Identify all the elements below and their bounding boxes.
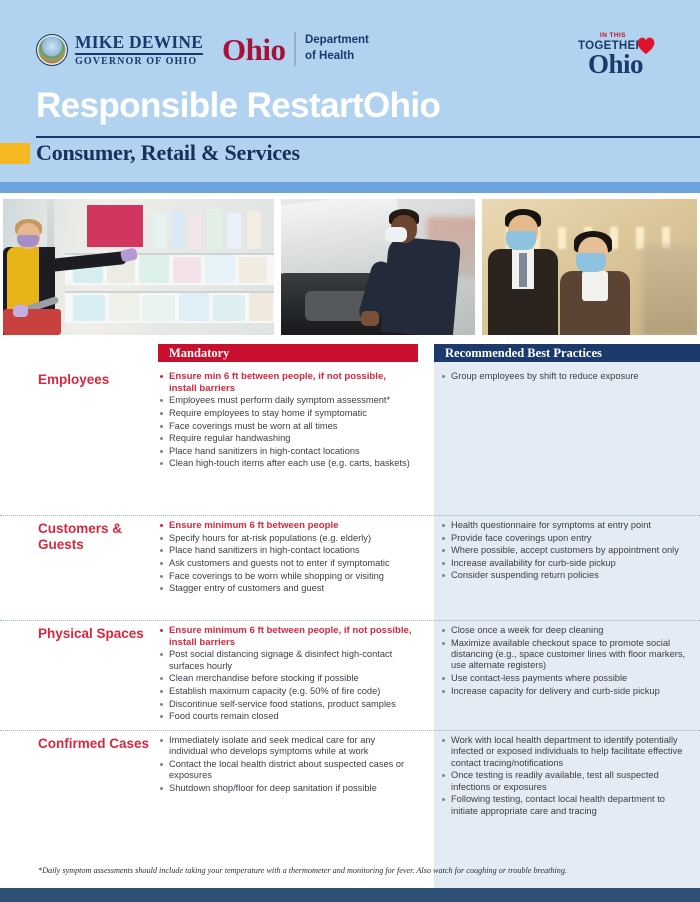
section-title: Physical Spaces bbox=[38, 626, 150, 642]
odh-logo-divider bbox=[294, 32, 296, 66]
list-item: Food courts remain closed bbox=[158, 711, 416, 722]
accent-tab bbox=[0, 143, 30, 164]
list-item: Clean merchandise before stocking if pos… bbox=[158, 673, 416, 684]
table-row: Customers & Guests Ensure minimum 6 ft b… bbox=[0, 515, 700, 620]
section-mandatory-list: Ensure min 6 ft between people, if not p… bbox=[158, 371, 416, 471]
list-item: Work with local health department to ide… bbox=[440, 735, 694, 769]
odh-logo: Ohio Department of Health bbox=[222, 32, 369, 66]
in-this-together-ohio-logo: IN THIS TOGETHER Ohio bbox=[578, 30, 673, 84]
list-item: Close once a week for deep cleaning bbox=[440, 625, 694, 636]
list-item: Place hand sanitizers in high-contact lo… bbox=[158, 446, 416, 457]
list-item: Require regular handwashing bbox=[158, 433, 416, 444]
governor-subtitle: GOVERNOR OF OHIO bbox=[75, 57, 203, 67]
list-item: Following testing, contact local health … bbox=[440, 794, 694, 817]
together-ohio-wordmark: Ohio bbox=[588, 51, 643, 78]
list-item: Health questionnaire for symptoms at ent… bbox=[440, 520, 694, 531]
page-header: MIKE DEWINE GOVERNOR OF OHIO Ohio Depart… bbox=[0, 0, 700, 182]
page-subtitle: Consumer, Retail & Services bbox=[36, 142, 300, 164]
table-row: Confirmed Cases Immediately isolate and … bbox=[0, 730, 700, 860]
title-divider bbox=[36, 136, 700, 138]
list-item: Group employees by shift to reduce expos… bbox=[440, 371, 694, 382]
list-item: Provide face coverings upon entry bbox=[440, 533, 694, 544]
list-item: Discontinue self-service food stations, … bbox=[158, 699, 416, 710]
list-item: Where possible, accept customers by appo… bbox=[440, 545, 694, 556]
list-item: Maximize available checkout space to pro… bbox=[440, 638, 694, 672]
photo-auto-mechanic bbox=[281, 199, 475, 335]
list-item: Ensure minimum 6 ft between people, if n… bbox=[158, 625, 416, 648]
column-header-mandatory: Mandatory bbox=[158, 344, 418, 362]
header-accent-strip bbox=[0, 182, 700, 193]
list-item: Specify hours for at-risk populations (e… bbox=[158, 533, 416, 544]
list-item: Require employees to stay home if sympto… bbox=[158, 408, 416, 419]
odh-department-line1: Department bbox=[305, 33, 369, 49]
bottom-bar bbox=[0, 888, 700, 902]
section-recommended-list: Group employees by shift to reduce expos… bbox=[440, 371, 694, 384]
section-title: Confirmed Cases bbox=[38, 736, 150, 752]
governor-logo: MIKE DEWINE GOVERNOR OF OHIO bbox=[36, 34, 203, 67]
odh-department-line2: of Health bbox=[305, 49, 369, 65]
column-header-mandatory-label: Mandatory bbox=[158, 344, 418, 362]
table-row: Employees Ensure min 6 ft between people… bbox=[0, 367, 700, 515]
section-recommended-list: Close once a week for deep cleaning Maxi… bbox=[440, 625, 694, 698]
odh-department-text: Department of Health bbox=[305, 33, 369, 64]
list-item: Ensure minimum 6 ft between people bbox=[158, 520, 416, 532]
in-this-text: IN THIS bbox=[600, 32, 626, 39]
section-title: Customers & Guests bbox=[38, 521, 150, 552]
logo-row: MIKE DEWINE GOVERNOR OF OHIO Ohio Depart… bbox=[0, 32, 700, 84]
guidance-table: Mandatory Recommended Best Practices Emp… bbox=[0, 335, 700, 888]
list-item: Clean high-touch items after each use (e… bbox=[158, 458, 416, 469]
list-item: Increase availability for curb-side pick… bbox=[440, 558, 694, 569]
list-item: Post social distancing signage & disinfe… bbox=[158, 649, 416, 672]
list-item: Ensure min 6 ft between people, if not p… bbox=[158, 371, 416, 394]
governor-name: MIKE DEWINE bbox=[75, 34, 203, 52]
list-item: Employees must perform daily symptom ass… bbox=[158, 395, 416, 406]
list-item: Face coverings must be worn at all times bbox=[158, 421, 416, 432]
section-recommended-list: Work with local health department to ide… bbox=[440, 735, 694, 818]
list-item: Shutdown shop/floor for deep sanitation … bbox=[158, 783, 416, 794]
list-item: Contact the local health district about … bbox=[158, 759, 416, 782]
photo-retail-shopper bbox=[3, 199, 274, 335]
odh-ohio-wordmark: Ohio bbox=[222, 34, 285, 65]
table-row: Physical Spaces Ensure minimum 6 ft betw… bbox=[0, 620, 700, 730]
section-recommended-list: Health questionnaire for symptoms at ent… bbox=[440, 520, 694, 583]
governor-logo-text: MIKE DEWINE GOVERNOR OF OHIO bbox=[75, 34, 203, 67]
governor-logo-rule bbox=[75, 53, 203, 55]
list-item: Establish maximum capacity (e.g. 50% of … bbox=[158, 686, 416, 697]
column-header-recommended-label: Recommended Best Practices bbox=[434, 344, 700, 362]
section-title: Employees bbox=[38, 372, 150, 388]
column-header-recommended: Recommended Best Practices bbox=[434, 344, 700, 362]
list-item: Use contact-less payments where possible bbox=[440, 673, 694, 684]
list-item: Ask customers and guests not to enter if… bbox=[158, 558, 416, 569]
list-item: Once testing is readily available, test … bbox=[440, 770, 694, 793]
list-item: Face coverings to be worn while shopping… bbox=[158, 571, 416, 582]
page-title: Responsible RestartOhio bbox=[36, 88, 440, 123]
table-column-headers: Mandatory Recommended Best Practices bbox=[0, 344, 700, 362]
list-item: Consider suspending return policies bbox=[440, 570, 694, 581]
footnote: *Daily symptom assessments should includ… bbox=[38, 866, 688, 875]
list-item: Increase capacity for delivery and curb-… bbox=[440, 686, 694, 697]
list-item: Immediately isolate and seek medical car… bbox=[158, 735, 416, 758]
section-mandatory-list: Immediately isolate and seek medical car… bbox=[158, 735, 416, 796]
photo-band bbox=[0, 199, 700, 335]
ohio-state-seal-icon bbox=[36, 34, 68, 66]
photo-hospitality-staff bbox=[482, 199, 697, 335]
list-item: Place hand sanitizers in high-contact lo… bbox=[158, 545, 416, 556]
list-item: Stagger entry of customers and guest bbox=[158, 583, 416, 594]
section-mandatory-list: Ensure minimum 6 ft between people, if n… bbox=[158, 625, 416, 724]
section-mandatory-list: Ensure minimum 6 ft between people Speci… bbox=[158, 520, 416, 596]
